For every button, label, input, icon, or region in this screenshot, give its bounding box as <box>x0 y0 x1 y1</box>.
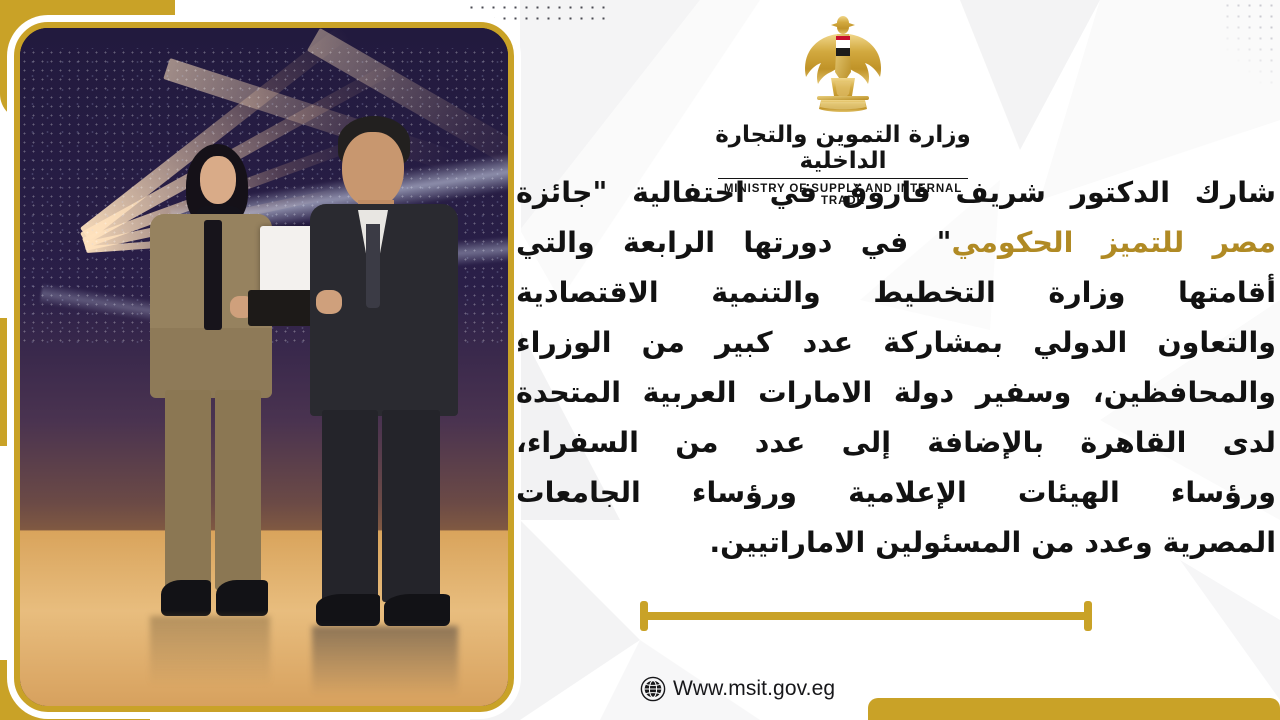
post-body-text: شارك الدكتور شريف فاروق في احتفالية "جائ… <box>516 168 1276 568</box>
post-body-segment: والتعاون الدولي بمشاركة عدد كبير من الوز… <box>516 326 1276 359</box>
post-body-line: المصرية وعدد من المسئولين الاماراتيين. <box>516 518 1276 568</box>
event-photo <box>20 28 508 706</box>
website-line[interactable]: Www.msit.gov.eg <box>640 676 835 702</box>
post-body-line: شارك الدكتور شريف فاروق في احتفالية "جائ… <box>516 168 1276 218</box>
globe-icon <box>640 676 666 702</box>
dot-grid-top-right <box>1222 0 1280 92</box>
post-body-line: ورؤساء الهيئات الإعلامية ورؤساء الجامعات <box>516 468 1276 518</box>
post-body-segment: ورؤساء الهيئات الإعلامية ورؤساء الجامعات <box>516 476 1276 509</box>
post-body-line: مصر للتميز الحكومي" في دورتها الرابعة وا… <box>516 218 1276 268</box>
post-body-line: والتعاون الدولي بمشاركة عدد كبير من الوز… <box>516 318 1276 368</box>
gold-bar-bottom-right <box>868 698 1280 720</box>
gold-divider-bar <box>640 612 1092 620</box>
post-body-segment: أقامتها وزارة التخطيط والتنمية الاقتصادي… <box>516 276 1276 309</box>
post-body-segment: شارك الدكتور شريف فاروق في احتفالية "جائ… <box>516 176 1276 209</box>
post-body-line: والمحافظين، وسفير دولة الامارات العربية … <box>516 368 1276 418</box>
highlighted-award-name: مصر للتميز الحكومي <box>951 226 1276 259</box>
post-body-line: أقامتها وزارة التخطيط والتنمية الاقتصادي… <box>516 268 1276 318</box>
post-body-segment: لدى القاهرة بالإضافة إلى عدد من السفراء، <box>516 426 1276 459</box>
post-body-segment: المصرية وعدد من المسئولين الاماراتيين. <box>709 526 1276 559</box>
event-photo-frame <box>14 22 514 712</box>
post-body-line: لدى القاهرة بالإضافة إلى عدد من السفراء، <box>516 418 1276 468</box>
website-url[interactable]: Www.msit.gov.eg <box>673 677 835 701</box>
ministry-name-arabic: وزارة التموين والتجارة الداخلية <box>700 122 986 175</box>
eagle-of-saladin-emblem <box>797 14 889 120</box>
post-body-segment: " في دورتها الرابعة والتي <box>516 226 951 259</box>
social-card-root: وزارة التموين والتجارة الداخلية MINISTRY… <box>0 0 1280 720</box>
post-body-segment: والمحافظين، وسفير دولة الامارات العربية … <box>516 376 1276 409</box>
